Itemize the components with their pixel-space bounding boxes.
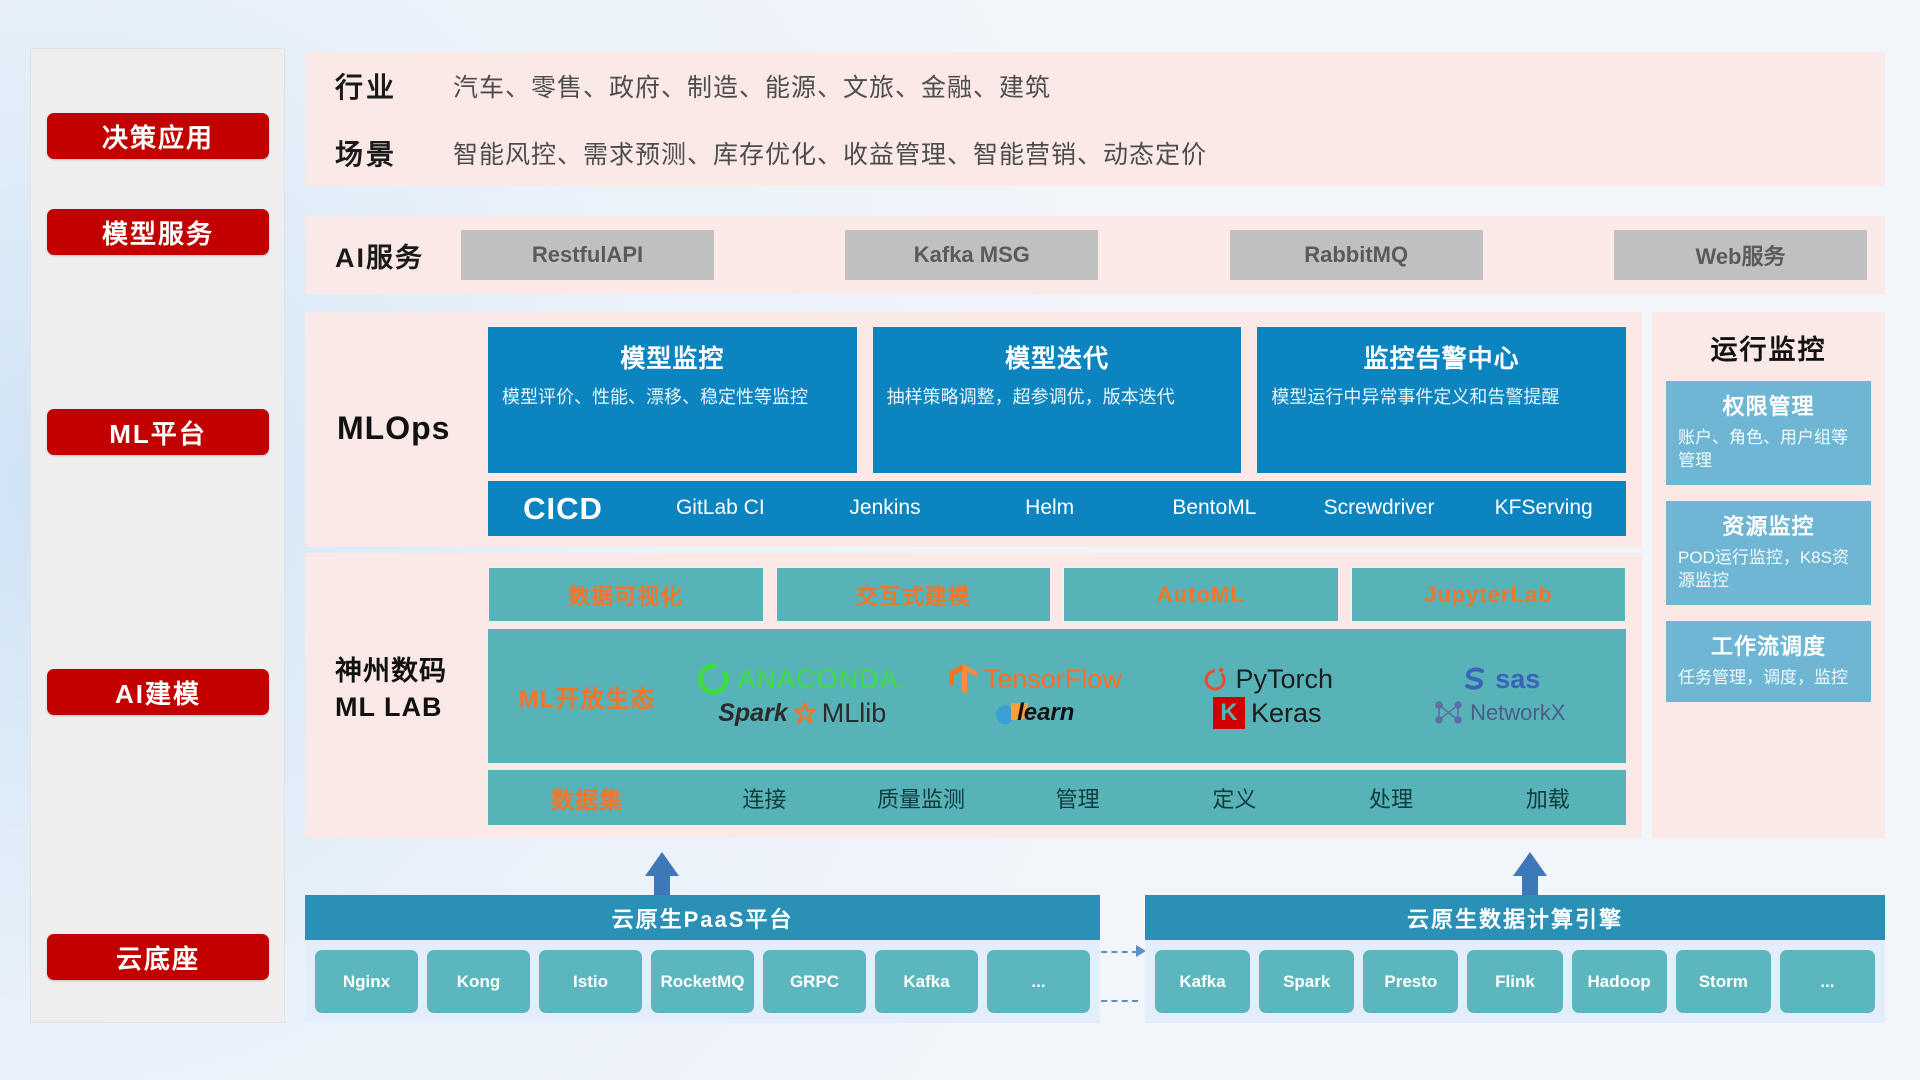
card-desc: 任务管理，调度，监控 [1678, 667, 1859, 690]
scenario-label: 场景 [335, 133, 453, 173]
decision-applications-band: 行业 汽车、零售、政府、制造、能源、文旅、金融、建筑 场景 智能风控、需求预测、… [305, 52, 1885, 186]
cloud-chip-more[interactable]: ... [987, 950, 1090, 1013]
anaconda-logo-text: ANACONDA. [737, 664, 907, 695]
dataset-label: 数据集 [488, 781, 686, 815]
cloud-chip-grpc[interactable]: GRPC [763, 950, 866, 1013]
ml-lab-label: 神州数码 ML LAB [335, 653, 447, 726]
card-title: 工作流调度 [1678, 629, 1859, 661]
ml-open-ecosystem-label: ML开放生态 [488, 679, 686, 714]
ai-services-band: AI服务 RestfulAPI Kafka MSG RabbitMQ Web服务 [305, 216, 1885, 294]
cloud-chip-kafka[interactable]: Kafka [875, 950, 978, 1013]
scikit-learn-logo-text: learn [1017, 699, 1074, 727]
cicd-item-helm[interactable]: Helm [967, 495, 1132, 521]
architecture-diagram: 决策应用 模型服务 ML平台 AI建模 云底座 行业 汽车、零售、政府、制造、能… [0, 0, 1920, 1080]
cloud-paas-chips: Nginx Kong Istio RocketMQ GRPC Kafka ... [305, 940, 1100, 1023]
card-title: 权限管理 [1678, 389, 1859, 421]
service-chip-web-service[interactable]: Web服务 [1614, 230, 1867, 280]
card-title: 模型监控 [502, 339, 843, 375]
card-title: 资源监控 [1678, 509, 1859, 541]
pytorch-logo-text: PyTorch [1235, 664, 1333, 695]
scenario-row: 场景 智能风控、需求预测、库存优化、收益管理、智能营销、动态定价 [305, 119, 1885, 186]
data-chip-kafka[interactable]: Kafka [1155, 950, 1250, 1013]
ai-services-label: AI服务 [335, 236, 453, 275]
tensorflow-logo-text: TensorFlow [984, 664, 1122, 695]
monitoring-card-workflow[interactable]: 工作流调度 任务管理，调度，监控 [1666, 621, 1871, 702]
dataset-pipeline: 数据集 连接 质量监测 管理 定义 处理 加载 [488, 770, 1626, 825]
keras-logo-text: Keras [1251, 698, 1322, 729]
keras-icon: K [1213, 697, 1245, 729]
networkx-logo-item: NetworkX [1434, 699, 1565, 727]
mlops-card-list: 模型监控 模型评价、性能、漂移、稳定性等监控 模型迭代 抽样策略调整，超参调优，… [488, 327, 1626, 473]
service-chip-restfulapi[interactable]: RestfulAPI [461, 230, 714, 280]
cicd-bar: CICD GitLab CI Jenkins Helm BentoML Scre… [488, 481, 1626, 536]
anaconda-icon [697, 662, 731, 696]
cloud-data-engine-title: 云原生数据计算引擎 [1145, 895, 1885, 940]
cloud-chip-nginx[interactable]: Nginx [315, 950, 418, 1013]
rail-chip-ai-modeling[interactable]: AI建模 [47, 669, 269, 715]
dataset-step-load[interactable]: 加载 [1469, 782, 1626, 814]
scenario-values: 智能风控、需求预测、库存优化、收益管理、智能营销、动态定价 [453, 135, 1207, 171]
cicd-label: CICD [488, 491, 638, 527]
card-desc: 抽样策略调整，超参调优，版本迭代 [887, 385, 1228, 409]
tensorflow-icon [948, 662, 978, 696]
monitoring-card-resources[interactable]: 资源监控 POD运行监控，K8S资源监控 [1666, 501, 1871, 605]
dataset-step-manage[interactable]: 管理 [999, 782, 1156, 814]
mlops-label: MLOps [337, 410, 450, 447]
card-title: 模型迭代 [887, 339, 1228, 375]
pytorch-icon [1201, 663, 1229, 695]
mlops-card-alert-center[interactable]: 监控告警中心 模型运行中异常事件定义和告警提醒 [1257, 327, 1626, 473]
data-chip-spark[interactable]: Spark [1259, 950, 1354, 1013]
service-chip-rabbitmq[interactable]: RabbitMQ [1230, 230, 1483, 280]
ecosystem-logo-grid: ANACONDA. TensorFlow [686, 662, 1626, 730]
cloud-chip-rocketmq[interactable]: RocketMQ [651, 950, 754, 1013]
cicd-item-gitlab-ci[interactable]: GitLab CI [638, 495, 803, 521]
ai-services-grid: RestfulAPI Kafka MSG RabbitMQ Web服务 [453, 230, 1885, 280]
cicd-item-jenkins[interactable]: Jenkins [803, 495, 968, 521]
lab-tool-automl[interactable]: AutoML [1063, 567, 1339, 622]
service-chip-kafka-msg[interactable]: Kafka MSG [845, 230, 1098, 280]
rail-chip-model-service[interactable]: 模型服务 [47, 209, 269, 255]
rail-chip-cloud-base[interactable]: 云底座 [47, 934, 269, 980]
sas-logo-item: sas [1459, 664, 1540, 695]
dataset-step-quality-monitoring[interactable]: 质量监测 [843, 782, 1000, 814]
layer-rail: 决策应用 模型服务 ML平台 AI建模 云底座 [30, 48, 285, 1023]
rail-chip-ml-platform[interactable]: ML平台 [47, 409, 269, 455]
card-desc: 模型评价、性能、漂移、稳定性等监控 [502, 385, 843, 409]
lab-tool-data-visualization[interactable]: 数据可视化 [488, 567, 764, 622]
anaconda-logo-item: ANACONDA. [697, 662, 907, 696]
pytorch-logo-item: PyTorch [1201, 663, 1333, 695]
spark-star-icon [794, 702, 816, 724]
runtime-monitoring-title: 运行监控 [1652, 312, 1885, 381]
lab-tool-interactive-modeling[interactable]: 交互式建模 [776, 567, 1052, 622]
ml-lab-label-text: 神州数码 ML LAB [335, 656, 447, 722]
data-chip-more[interactable]: ... [1780, 950, 1875, 1013]
card-title: 监控告警中心 [1271, 339, 1612, 375]
data-chip-storm[interactable]: Storm [1676, 950, 1771, 1013]
mlops-card-model-iteration[interactable]: 模型迭代 抽样策略调整，超参调优，版本迭代 [873, 327, 1242, 473]
cicd-item-kfserving[interactable]: KFServing [1461, 495, 1626, 521]
scikit-learn-logo-item: learn [995, 697, 1074, 729]
cloud-native-paas-block: 云原生PaaS平台 Nginx Kong Istio RocketMQ GRPC… [305, 895, 1100, 1023]
cloud-chip-kong[interactable]: Kong [427, 950, 530, 1013]
industry-values: 汽车、零售、政府、制造、能源、文旅、金融、建筑 [453, 68, 1051, 104]
sas-icon [1459, 664, 1489, 694]
ml-open-ecosystem: ML开放生态 ANACONDA. TensorFlow [488, 629, 1626, 763]
data-chip-hadoop[interactable]: Hadoop [1572, 950, 1667, 1013]
networkx-logo-text: NetworkX [1470, 700, 1565, 726]
dataset-step-define[interactable]: 定义 [1156, 782, 1313, 814]
data-chip-flink[interactable]: Flink [1467, 950, 1562, 1013]
lab-tool-jupyterlab[interactable]: JupyterLab [1351, 567, 1627, 622]
industry-row: 行业 汽车、零售、政府、制造、能源、文旅、金融、建筑 [305, 52, 1885, 119]
data-chip-presto[interactable]: Presto [1363, 950, 1458, 1013]
tensorflow-logo-item: TensorFlow [948, 662, 1122, 696]
ml-lab-inner: 数据可视化 交互式建模 AutoML JupyterLab ML开放生态 ANA… [488, 567, 1626, 825]
cicd-item-bentoml[interactable]: BentoML [1132, 495, 1297, 521]
cloud-data-engine-chips: Kafka Spark Presto Flink Hadoop Storm ..… [1145, 940, 1885, 1023]
card-desc: POD运行监控，K8S资源监控 [1678, 547, 1859, 593]
runtime-monitoring-panel: 运行监控 权限管理 账户、角色、用户组等管理 资源监控 POD运行监控，K8S资… [1652, 312, 1885, 838]
dataset-step-connect[interactable]: 连接 [686, 782, 843, 814]
ai-modeling-band: 神州数码 ML LAB 数据可视化 交互式建模 AutoML JupyterLa… [305, 553, 1642, 838]
card-desc: 账户、角色、用户组等管理 [1678, 427, 1859, 473]
monitoring-card-permissions[interactable]: 权限管理 账户、角色、用户组等管理 [1666, 381, 1871, 485]
cloud-native-data-engine-block: 云原生数据计算引擎 Kafka Spark Presto Flink Hadoo… [1145, 895, 1885, 1023]
cicd-item-screwdriver[interactable]: Screwdriver [1297, 495, 1462, 521]
keras-logo-item: K Keras [1213, 697, 1322, 729]
cloud-paas-title: 云原生PaaS平台 [305, 895, 1100, 940]
rail-chip-decision-apps[interactable]: 决策应用 [47, 113, 269, 159]
cloud-chip-istio[interactable]: Istio [539, 950, 642, 1013]
industry-label: 行业 [335, 66, 453, 106]
mlops-card-model-monitoring[interactable]: 模型监控 模型评价、性能、漂移、稳定性等监控 [488, 327, 857, 473]
ml-lab-tools: 数据可视化 交互式建模 AutoML JupyterLab [488, 567, 1626, 622]
mlops-band: MLOps 模型监控 模型评价、性能、漂移、稳定性等监控 模型迭代 抽样策略调整… [305, 312, 1642, 547]
dataset-step-process[interactable]: 处理 [1313, 782, 1470, 814]
card-desc: 模型运行中异常事件定义和告警提醒 [1271, 385, 1612, 409]
apache-spark-wordmark: Spark [718, 699, 787, 728]
networkx-icon [1434, 699, 1464, 727]
sas-logo-text: sas [1495, 664, 1540, 695]
mllib-logo-text: MLlib [822, 698, 887, 729]
spark-mllib-logo-item: Spark MLlib [718, 698, 886, 729]
